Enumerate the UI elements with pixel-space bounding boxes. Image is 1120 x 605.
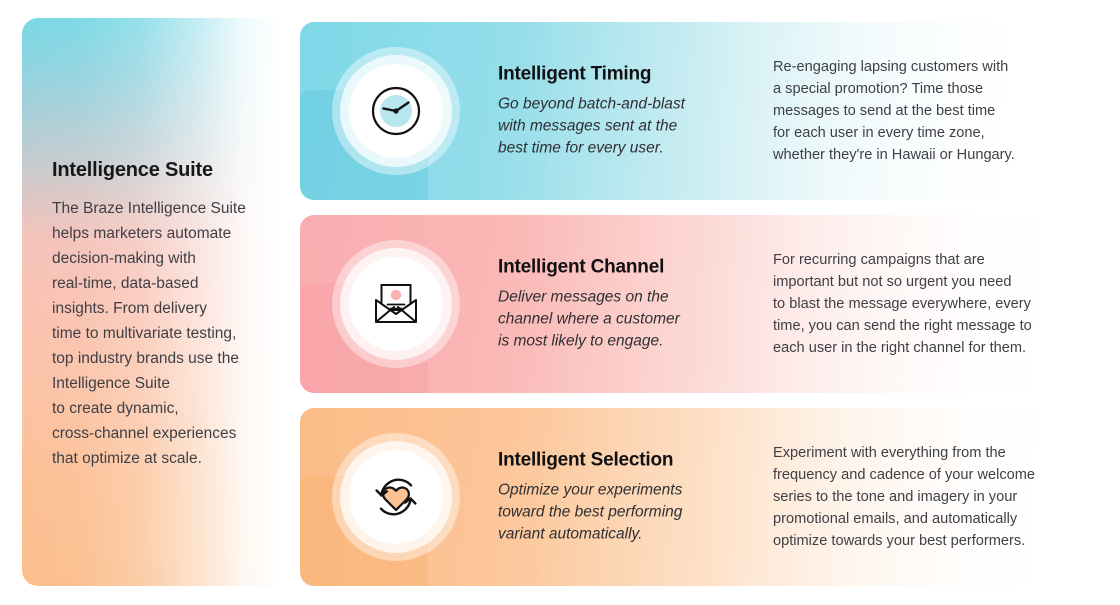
icon-medallion-timing (332, 47, 460, 175)
card-heading-block-selection: Intelligent Selection Optimize your expe… (498, 449, 748, 546)
intro-panel-content: Intelligence Suite The Braze Intelligenc… (52, 158, 274, 471)
feature-card-intelligent-selection: Intelligent Selection Optimize your expe… (300, 408, 1066, 586)
intro-paragraph: The Braze Intelligence Suite helps marke… (52, 196, 274, 471)
page-title: Intelligence Suite (52, 158, 274, 182)
envelope-icon (368, 276, 424, 332)
feature-card-intelligent-channel: Intelligent Channel Deliver messages on … (300, 215, 1066, 393)
icon-medallion-selection (332, 433, 460, 561)
card-heading: Intelligent Timing (498, 63, 748, 87)
card-body-text: Re-engaging lapsing customers with a spe… (773, 56, 1066, 166)
icon-medallion-channel (332, 240, 460, 368)
intelligence-suite-graphic: Intelligence Suite The Braze Intelligenc… (0, 0, 1120, 605)
clock-icon (368, 83, 424, 139)
card-subtitle: Go beyond batch-and-blast with messages … (498, 93, 748, 159)
intelligence-suite-intro-panel: Intelligence Suite The Braze Intelligenc… (22, 18, 280, 586)
card-heading-block-timing: Intelligent Timing Go beyond batch-and-b… (498, 63, 748, 160)
card-heading-block-channel: Intelligent Channel Deliver messages on … (498, 256, 748, 353)
card-body-text: For recurring campaigns that are importa… (773, 249, 1066, 359)
card-heading: Intelligent Channel (498, 256, 748, 280)
card-heading: Intelligent Selection (498, 449, 748, 473)
card-body-text: Experiment with everything from the freq… (773, 442, 1066, 552)
card-subtitle: Deliver messages on the channel where a … (498, 286, 748, 352)
heart-refresh-icon (368, 469, 424, 525)
feature-card-intelligent-timing: Intelligent Timing Go beyond batch-and-b… (300, 22, 1066, 200)
card-subtitle: Optimize your experiments toward the bes… (498, 479, 748, 545)
